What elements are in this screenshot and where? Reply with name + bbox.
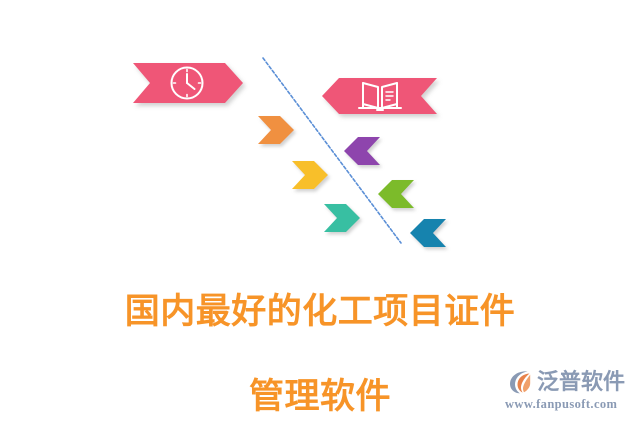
chevron-amber xyxy=(292,161,328,189)
clock-icon xyxy=(172,68,203,99)
brand-name: 泛普软件 xyxy=(537,367,625,397)
chevron-green xyxy=(378,180,414,208)
page-title-line-1: 国内最好的化工项目证件 xyxy=(0,291,640,334)
brand-url: www.fanpusoft.com xyxy=(505,397,635,412)
fanpu-logo-mark-icon xyxy=(505,367,535,397)
chevron-purple xyxy=(344,137,380,165)
chevron-orange xyxy=(258,116,294,144)
chevron-teal xyxy=(324,204,360,232)
slide-canvas: 国内最好的化工项目证件 管理软件 泛普软件 www.fanpusoft.com xyxy=(0,0,640,427)
brand-logo-row: 泛普软件 xyxy=(505,366,635,398)
chevron-blue xyxy=(410,219,446,247)
brand-logo[interactable]: 泛普软件 www.fanpusoft.com xyxy=(505,366,635,418)
